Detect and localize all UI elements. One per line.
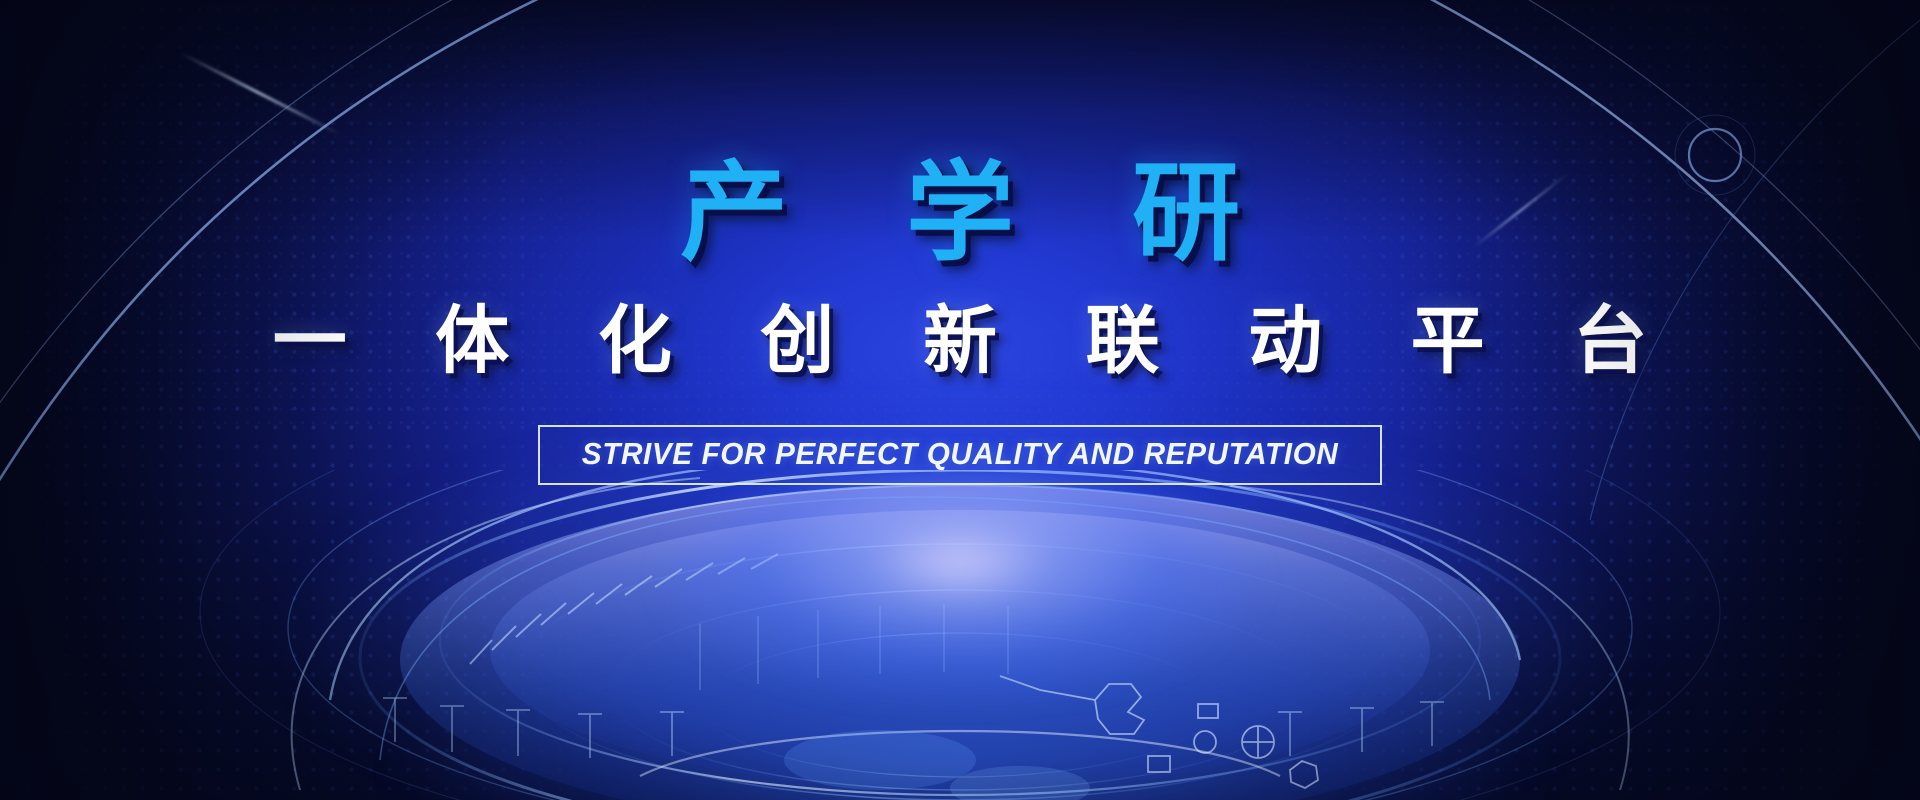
background-vignette [0,0,1920,800]
hero-banner: 产 学 研 一 体 化 创 新 联 动 平 台 STRIVE FOR PERFE… [0,0,1920,800]
